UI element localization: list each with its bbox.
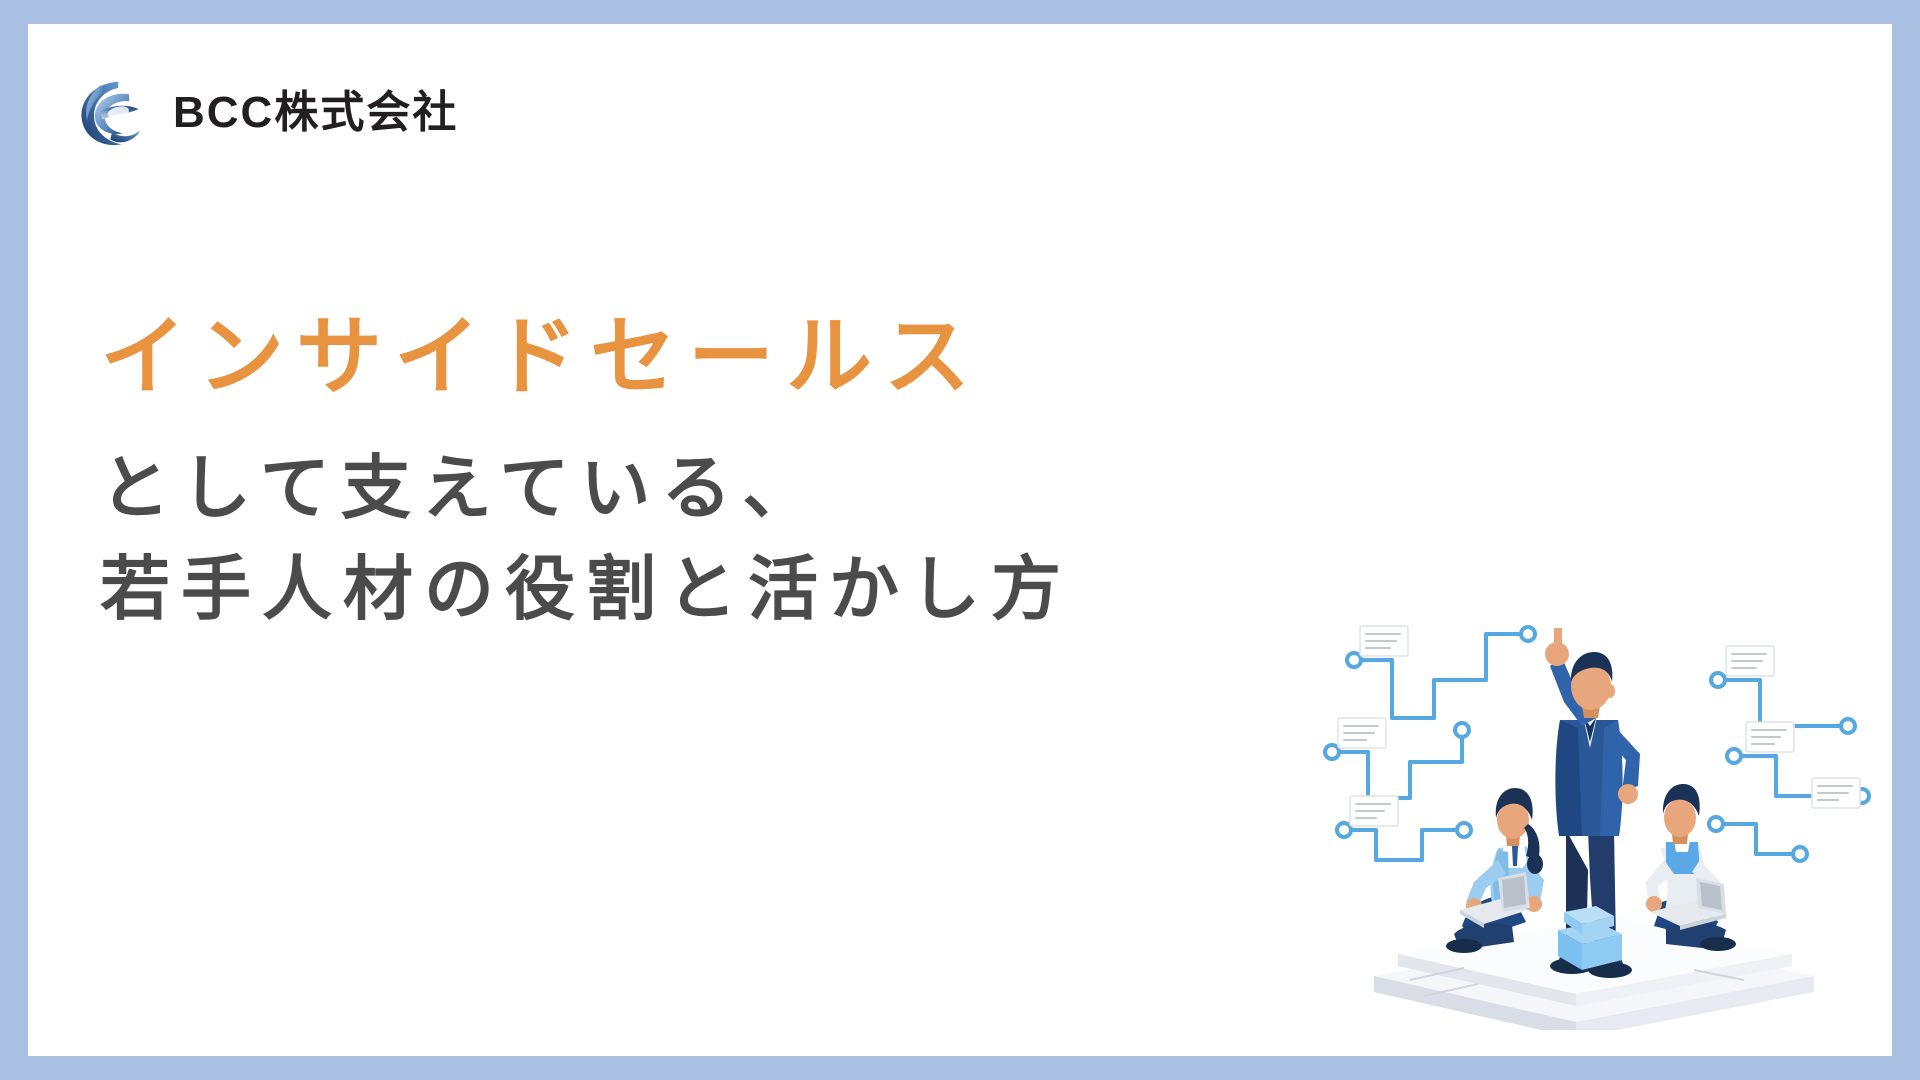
subtitle-line-2: 若手人材の役割と活かし方 — [100, 539, 1260, 641]
seated-woman-with-laptop — [1446, 788, 1544, 953]
slide-card: BCC株式会社 インサイドセールス として支えている、 若手人材の役割と活かし方 — [28, 24, 1892, 1056]
subtitle-line-1: として支えている、 — [100, 438, 1260, 540]
seated-man-with-laptop — [1646, 784, 1736, 951]
headline-block: インサイドセールス として支えている、 若手人材の役割と活かし方 — [100, 304, 1260, 641]
headline-subtitle: として支えている、 若手人材の役割と活かし方 — [100, 438, 1260, 641]
bcc-swirl-e-logo-icon — [73, 74, 151, 152]
blue-boxes — [1558, 906, 1622, 970]
brand-logo[interactable]: BCC株式会社 — [73, 74, 458, 152]
slide-canvas: BCC株式会社 インサイドセールス として支えている、 若手人材の役割と活かし方 — [0, 0, 1920, 1080]
business-team-illustration — [1314, 530, 1874, 1030]
headline-accent: インサイドセールス — [100, 304, 1260, 412]
company-name: BCC株式会社 — [173, 91, 458, 135]
